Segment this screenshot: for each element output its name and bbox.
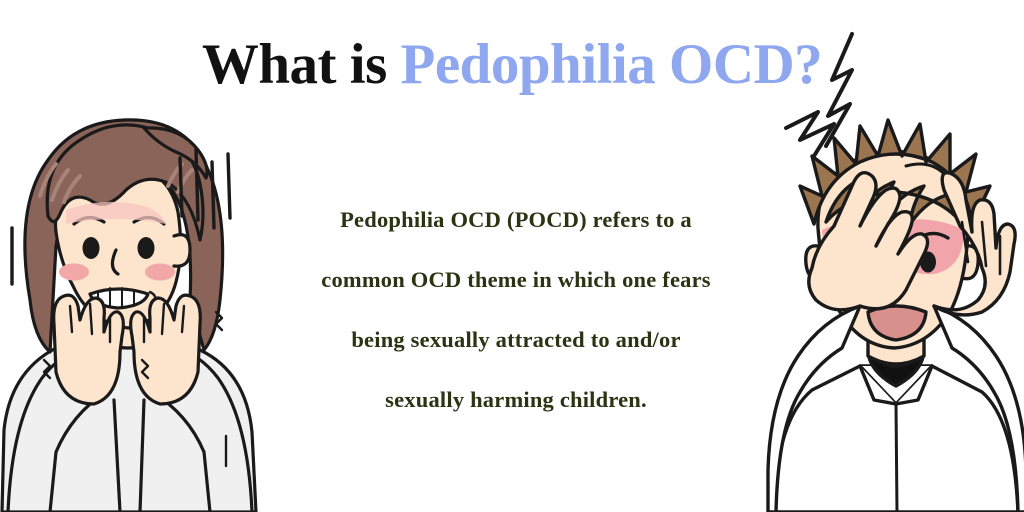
definition-line: Pedophilia OCD (POCD) refers to a	[240, 190, 792, 250]
infographic-canvas: What is Pedophilia OCD? Pedophilia OCD (…	[0, 0, 1024, 512]
woman-eye-left	[83, 237, 100, 259]
definition-paragraph: Pedophilia OCD (POCD) refers to a common…	[240, 190, 792, 430]
anxious-woman-svg	[0, 0, 264, 512]
distressed-man-svg	[756, 0, 1024, 512]
distressed-man-illustration	[756, 0, 1024, 512]
man-lightning-stress-mark	[786, 34, 852, 156]
woman-eye-right	[138, 237, 155, 259]
woman-blush-left	[59, 264, 89, 281]
definition-line: common OCD theme in which one fears	[240, 250, 792, 310]
woman-blush-right	[145, 264, 175, 281]
definition-line: sexually harming children.	[240, 370, 792, 430]
woman-body	[2, 330, 256, 512]
definition-line: being sexually attracted to and/or	[240, 310, 792, 370]
anxious-woman-illustration	[0, 0, 264, 512]
